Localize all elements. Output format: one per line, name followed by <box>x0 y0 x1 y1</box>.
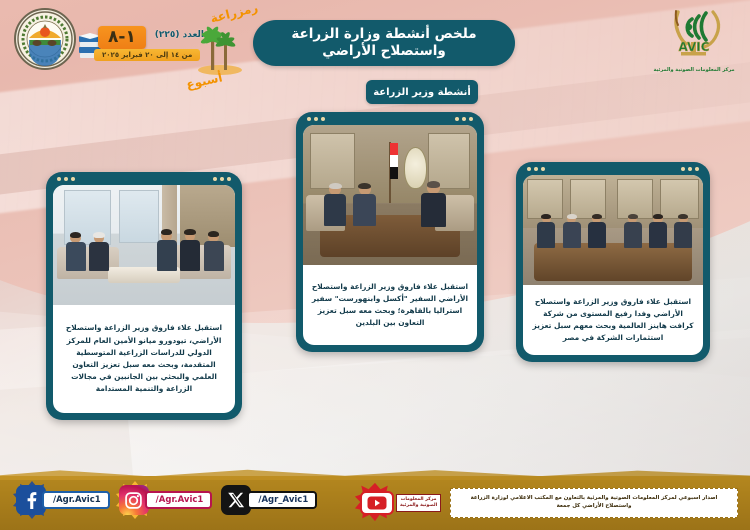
palm-tree-icon <box>188 18 252 76</box>
card-body: استقبل علاء فاروق وزير الزراعة واستصلاح … <box>53 185 235 413</box>
poster-canvas: ١-٨ العدد (٢٢٥) من ١٤ إلى ٢٠ فبراير ٢٠٢٥… <box>0 0 750 530</box>
social-link-x[interactable]: /Agr_Avic1 <box>221 485 317 515</box>
youtube-badge-line2: الصوتية والمرئية <box>400 503 437 509</box>
card-body: استقبل علاء فاروق وزير الزراعة واستصلاح … <box>303 125 477 345</box>
card-photo-left <box>53 185 235 305</box>
card-dots-right <box>455 117 473 121</box>
card-photo-center <box>303 125 477 265</box>
facebook-handle[interactable]: /Agr.Avic1 <box>42 491 110 509</box>
card-caption-right: استقبل علاء فاروق وزير الزراعة واستصلاح … <box>523 285 703 355</box>
card-caption-center: استقبل علاء فاروق وزير الزراعة واستصلاح … <box>303 265 477 345</box>
card-dots-left <box>307 117 325 121</box>
card-photo-right <box>523 175 703 285</box>
agriculture-week-logo: رمزراعة أسبوع <box>182 4 260 88</box>
card-body: استقبل علاء فاروق وزير الزراعة واستصلاح … <box>523 175 703 355</box>
card-caption-left: استقبل علاء فاروق وزير الزراعة واستصلاح … <box>53 305 235 413</box>
footer-note: اصدار اسبوعي لمركز المعلومات الصوتية وال… <box>450 488 738 518</box>
page-title: ملخص أنشطة وزارة الزراعة واستصلاح الأراض… <box>253 20 515 66</box>
emblem-artwork <box>16 10 74 68</box>
card-dots-right <box>213 177 231 181</box>
activity-card-right[interactable]: استقبل علاء فاروق وزير الزراعة واستصلاح … <box>516 162 710 362</box>
instagram-handle[interactable]: /Agr.Avic1 <box>145 491 213 509</box>
poster-footer: /Agr.Avic1 /Agr.Avic1 <box>0 476 750 530</box>
avic-logo: AVIC مركز المعلومات الصوتية والمرئية <box>648 6 740 84</box>
section-subtitle-chip: أنشطة وزير الزراعة <box>366 80 478 104</box>
avic-logo-mark: AVIC <box>658 6 730 66</box>
page-title-text: ملخص أنشطة وزارة الزراعة واستصلاح الأراض… <box>253 26 515 60</box>
activity-card-center[interactable]: استقبل علاء فاروق وزير الزراعة واستصلاح … <box>296 112 484 352</box>
social-links-group: /Agr.Avic1 /Agr.Avic1 <box>16 485 317 515</box>
social-link-facebook[interactable]: /Agr.Avic1 <box>16 485 110 515</box>
footer-note-text: اصدار اسبوعي لمركز المعلومات الصوتية وال… <box>457 495 731 510</box>
activity-card-left[interactable]: استقبل علاء فاروق وزير الزراعة واستصلاح … <box>46 172 242 420</box>
youtube-channel-badge: مركز المعلومات الصوتية والمرئية <box>396 494 441 513</box>
poster-header: ١-٨ العدد (٢٢٥) من ١٤ إلى ٢٠ فبراير ٢٠٢٥… <box>0 0 750 112</box>
issue-range-label: ١-٨ <box>98 26 146 49</box>
svg-text:AVIC: AVIC <box>678 40 709 54</box>
ministry-of-agriculture-emblem <box>14 8 76 70</box>
avic-logo-caption: مركز المعلومات الصوتية والمرئية <box>653 67 734 73</box>
social-link-instagram[interactable]: /Agr.Avic1 <box>119 485 213 515</box>
card-dots-left <box>57 177 75 181</box>
footer-wave-decoration <box>0 468 750 480</box>
card-dots-right <box>681 167 699 171</box>
youtube-icon[interactable] <box>360 491 394 515</box>
x-handle[interactable]: /Agr_Avic1 <box>247 491 317 509</box>
section-subtitle-text: أنشطة وزير الزراعة <box>373 87 471 98</box>
card-dots-left <box>527 167 545 171</box>
youtube-link[interactable]: مركز المعلومات الصوتية والمرئية <box>360 483 456 523</box>
